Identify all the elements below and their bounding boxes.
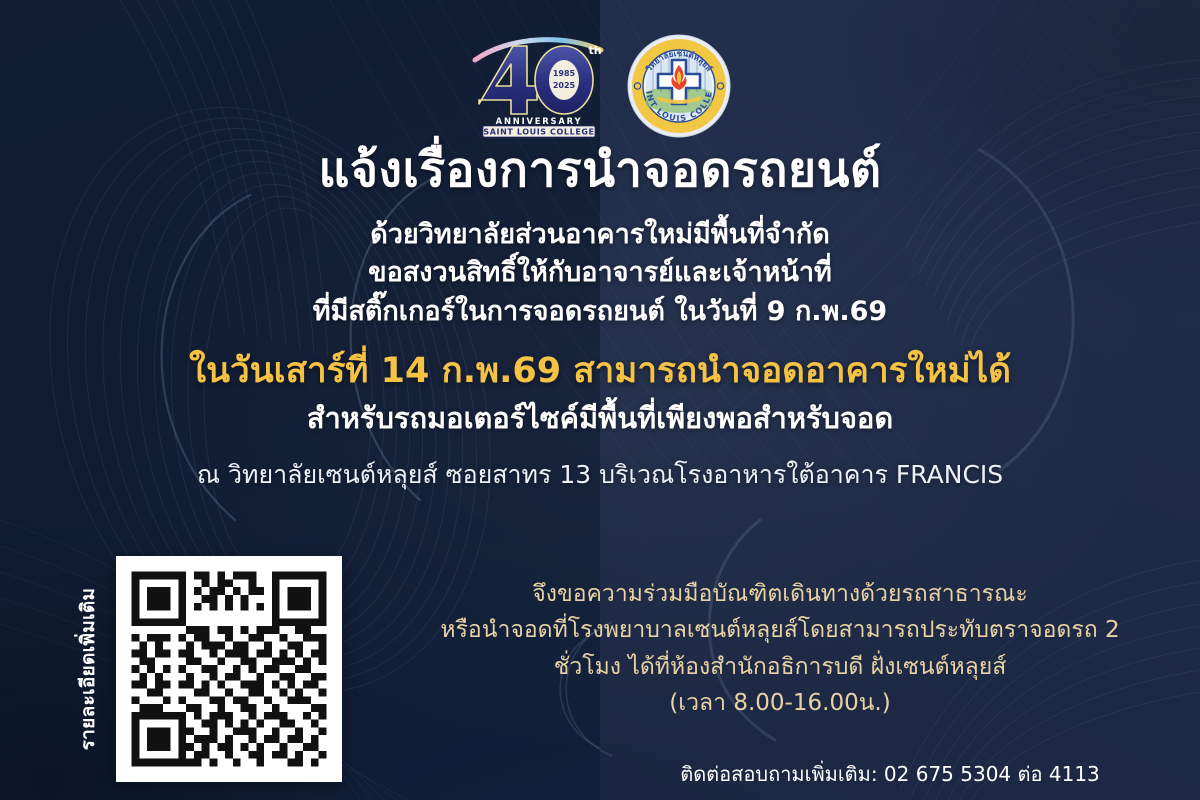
qr-code-image <box>116 556 342 782</box>
lead-line-2: ขอสงวนสิทธิ์ให้กับอาจารย์และเจ้าหน้าที่ <box>0 254 1200 292</box>
contact-line: ติดต่อสอบถามเพิ่มเติม: 02 675 5304 ต่อ 4… <box>600 758 1180 790</box>
logo-row: 1985 2025 th ANNIVERSARY SAINT LOUIS COL… <box>0 34 1200 138</box>
highlight-date-notice: ในวันเสาร์ที่ 14 ก.พ.69 สามารถนำจอดอาคาร… <box>0 350 1200 394</box>
lead-line-3: ที่มีสติ๊กเกอร์ในการจอดรถยนต์ ในวันที่ 9… <box>0 293 1200 331</box>
saint-louis-college-seal: วิทยาลัยเซนต์หลุยส์ SAINT LOUIS COLLEGE <box>627 34 731 138</box>
anniversary-40th-logo: 1985 2025 th ANNIVERSARY SAINT LOUIS COL… <box>469 34 609 138</box>
venue-line: ณ วิทยาลัยเซนต์หลุยส์ ซอยสาทร 13 บริเวณโ… <box>0 458 1200 492</box>
svg-text:th: th <box>588 44 601 57</box>
qr-code[interactable] <box>116 556 342 782</box>
svg-text:SAINT LOUIS COLLEGE: SAINT LOUIS COLLEGE <box>483 127 594 136</box>
appeal-line-1: จึงขอความร่วมมือบัณฑิตเดินทางด้วยรถสาธาร… <box>370 576 1190 612</box>
svg-text:1985: 1985 <box>553 69 576 78</box>
page-title: แจ้งเรื่องการนำจอดรถยนต์ <box>0 142 1200 199</box>
svg-text:ANNIVERSARY: ANNIVERSARY <box>496 116 583 126</box>
svg-text:2025: 2025 <box>553 81 576 90</box>
appeal-paragraph: จึงขอความร่วมมือบัณฑิตเดินทางด้วยรถสาธาร… <box>370 576 1190 721</box>
motorcycle-parking-note: สำหรับรถมอเตอร์ไซค์มีพื้นที่เพียงพอสำหรั… <box>0 400 1200 438</box>
poster-canvas: 1985 2025 th ANNIVERSARY SAINT LOUIS COL… <box>0 0 1200 800</box>
lead-line-1: ด้วยวิทยาลัยส่วนอาคารใหม่มีพื้นที่จำกัด <box>0 216 1200 254</box>
appeal-line-3: ชั่วโมง ได้ที่ห้องสำนักอธิการบดี ฝั่งเซน… <box>370 649 1190 685</box>
appeal-line-2: หรือนำจอดที่โรงพยาบาลเซนต์หลุยส์โดยสามาร… <box>370 612 1190 648</box>
lead-paragraph: ด้วยวิทยาลัยส่วนอาคารใหม่มีพื้นที่จำกัด … <box>0 216 1200 331</box>
appeal-line-4: (เวลา 8.00-16.00น.) <box>370 685 1190 721</box>
qr-code-caption: รายละเอียดเพิ่มเติม <box>71 556 105 782</box>
